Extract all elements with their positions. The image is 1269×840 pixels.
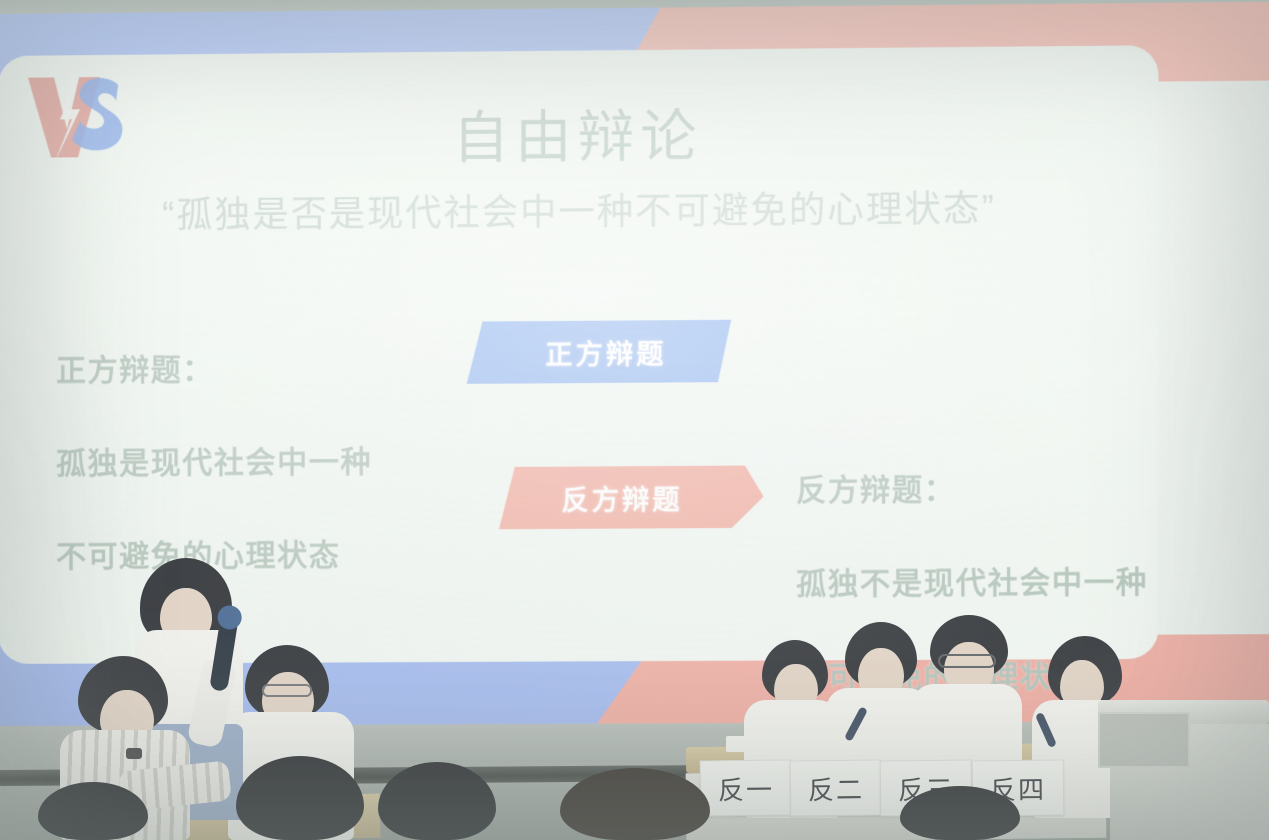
con-line-1: 孤独不是现代社会中一种 <box>796 560 1148 609</box>
pro-line-1: 孤独是现代社会中一种 <box>56 439 372 487</box>
con-heading: 反方辩题： <box>796 466 1148 515</box>
pro-heading: 正方辩题： <box>56 346 372 395</box>
pro-line-2: 不可避免的心理状态 <box>56 532 372 580</box>
con-argument-block: 反方辩题： 孤独不是现代社会中一种 不可避免的心理状态 <box>796 419 1148 749</box>
classroom-debate-scene: 自由辩论 “孤独是否是现代社会中一种不可避免的心理状态” 正方辩题： 孤独是现代… <box>0 0 1269 840</box>
con-banner: 反方辩题 <box>499 465 764 529</box>
slide-title: 自由辩论 <box>0 103 1269 170</box>
projected-slide: 自由辩论 “孤独是否是现代社会中一种不可避免的心理状态” 正方辩题： 孤独是现代… <box>0 2 1269 726</box>
pro-banner: 正方辩题 <box>467 320 731 384</box>
pro-argument-block: 正方辩题： 孤独是现代社会中一种 不可避免的心理状态 <box>56 299 372 627</box>
con-line-2: 不可避免的心理状态 <box>796 653 1148 701</box>
